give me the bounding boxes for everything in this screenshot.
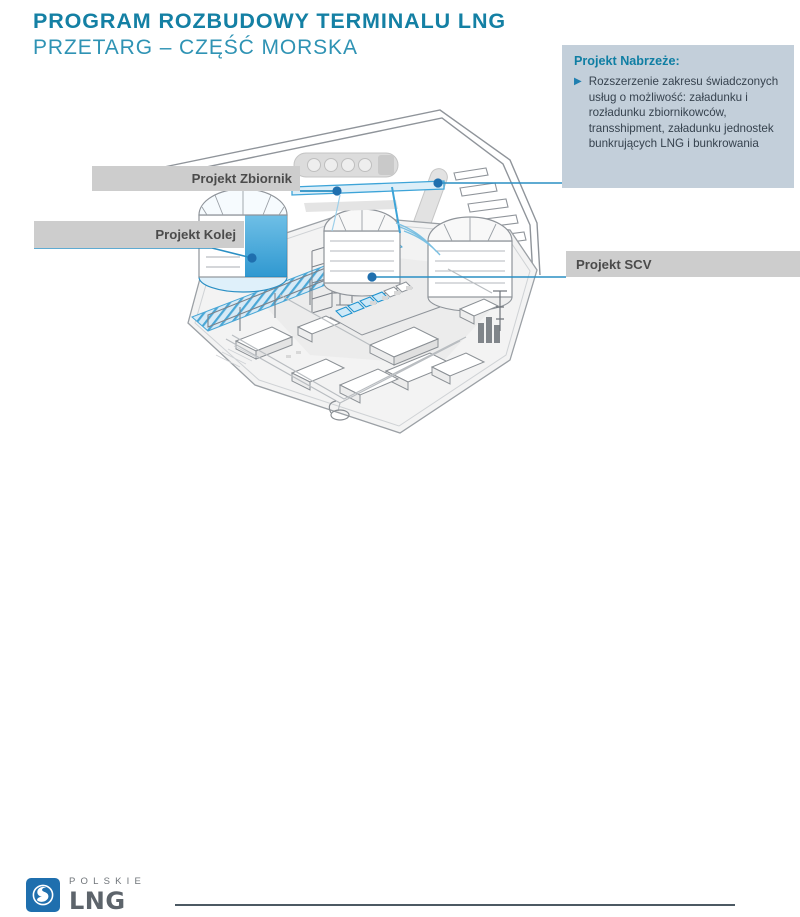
logo-wordmark: POLSKIE LNG [69, 877, 146, 913]
footer: POLSKIE LNG [0, 432, 800, 490]
label-scv-text: Projekt SCV [576, 257, 652, 272]
logo-text-lng: LNG [69, 889, 146, 913]
slide-root: PROGRAM ROZBUDOWY TERMINALU LNG PRZETARG… [0, 0, 800, 490]
logo-text-polskie: POLSKIE [69, 877, 146, 887]
label-projekt-scv[interactable]: Projekt SCV [566, 251, 800, 277]
footer-divider [175, 904, 735, 906]
title-line-primary: PROGRAM ROZBUDOWY TERMINALU LNG [33, 8, 506, 34]
label-projekt-kolej[interactable]: Projekt Kolej [34, 221, 244, 248]
callout-text: Rozszerzenie zakresu świadczonych usług … [589, 74, 784, 152]
callout-projekt-nabrzeze[interactable]: Projekt Nabrzeże: ▶ Rozszerzenie zakresu… [562, 45, 794, 188]
label-projekt-zbiornik[interactable]: Projekt Zbiornik [92, 166, 300, 191]
bullet-arrow-icon: ▶ [574, 74, 582, 152]
polskie-lng-mark-icon [26, 878, 60, 912]
page-title: PROGRAM ROZBUDOWY TERMINALU LNG PRZETARG… [33, 8, 506, 61]
callout-heading: Projekt Nabrzeże: [574, 53, 784, 69]
callout-body: ▶ Rozszerzenie zakresu świadczonych usłu… [574, 74, 784, 152]
lng-tank-middle [324, 209, 400, 296]
label-kolej-text: Projekt Kolej [155, 227, 236, 242]
polskie-lng-logo: POLSKIE LNG [26, 877, 146, 913]
label-zbiornik-text: Projekt Zbiornik [192, 171, 292, 186]
